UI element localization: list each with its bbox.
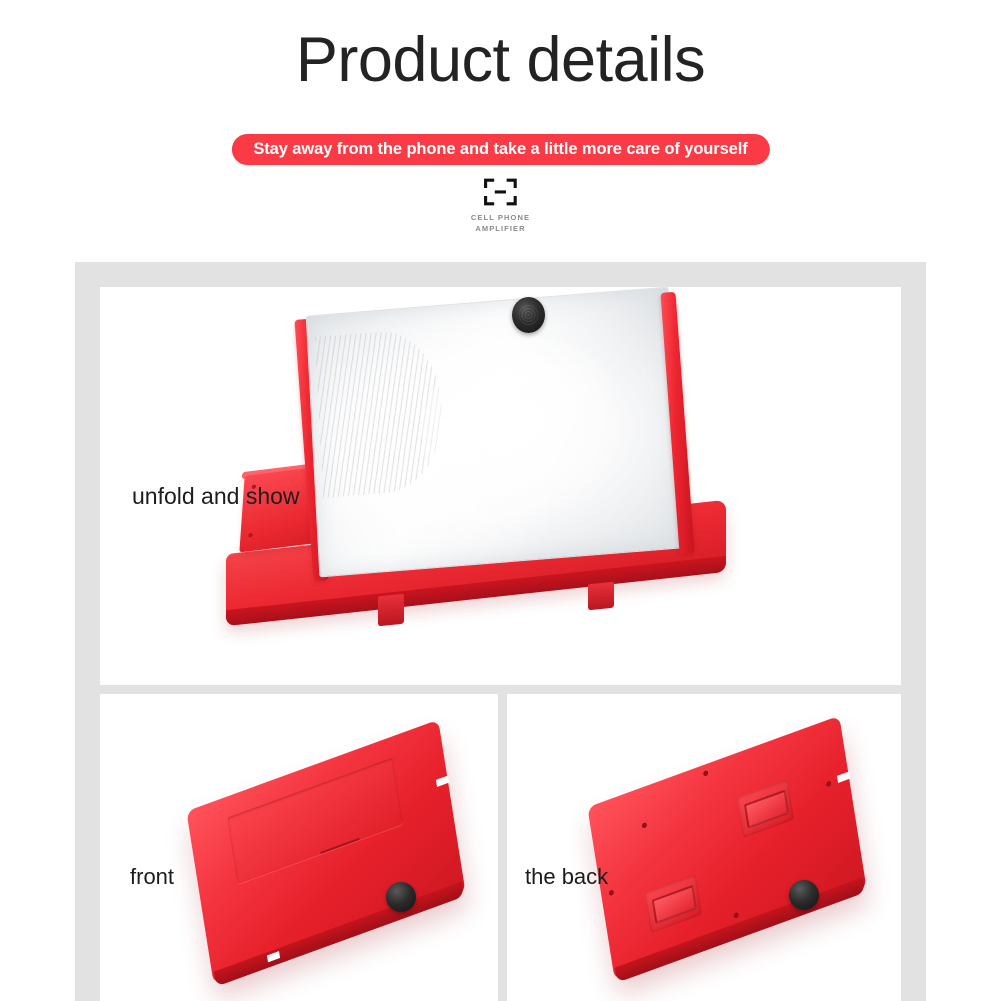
product-folded-back xyxy=(587,716,866,981)
scan-frame-icon xyxy=(482,176,518,208)
product-magnifier-lens xyxy=(306,287,683,577)
subtitle-text: Stay away from the phone and take a litt… xyxy=(253,141,747,158)
panel-label-unfold: unfold and show xyxy=(132,483,300,510)
brand-name-line1: CELL PHONE xyxy=(471,213,530,222)
back-clip-knob xyxy=(789,880,819,910)
product-stand-foot-left xyxy=(378,594,404,627)
product-stand-foot-right xyxy=(588,582,614,611)
panel-label-front: front xyxy=(130,864,174,890)
flap-screw-bottom xyxy=(248,533,252,538)
subtitle-badge: Stay away from the phone and take a litt… xyxy=(231,134,769,165)
gallery-panel-front[interactable]: front xyxy=(100,694,498,1001)
brand-name-line2: AMPLIFIER xyxy=(475,224,525,233)
product-photo-front xyxy=(100,694,498,1001)
gallery-panel-back[interactable]: the back xyxy=(507,694,901,1001)
page-header: Product details Stay away from the phone… xyxy=(0,0,1001,258)
product-folded-front xyxy=(186,720,465,985)
brand-logo: CELL PHONE AMPLIFIER xyxy=(471,176,530,235)
panel-label-back: the back xyxy=(525,864,608,890)
product-gallery: unfold and show xyxy=(75,262,926,1001)
product-photo-back xyxy=(507,694,901,1001)
gallery-panel-unfold[interactable]: unfold and show xyxy=(100,287,901,685)
front-clip-knob xyxy=(386,882,416,912)
page-title: Product details xyxy=(0,26,1001,95)
lens-highlight xyxy=(417,328,629,531)
brand-name: CELL PHONE AMPLIFIER xyxy=(471,213,530,235)
product-clip-knob xyxy=(512,297,545,333)
